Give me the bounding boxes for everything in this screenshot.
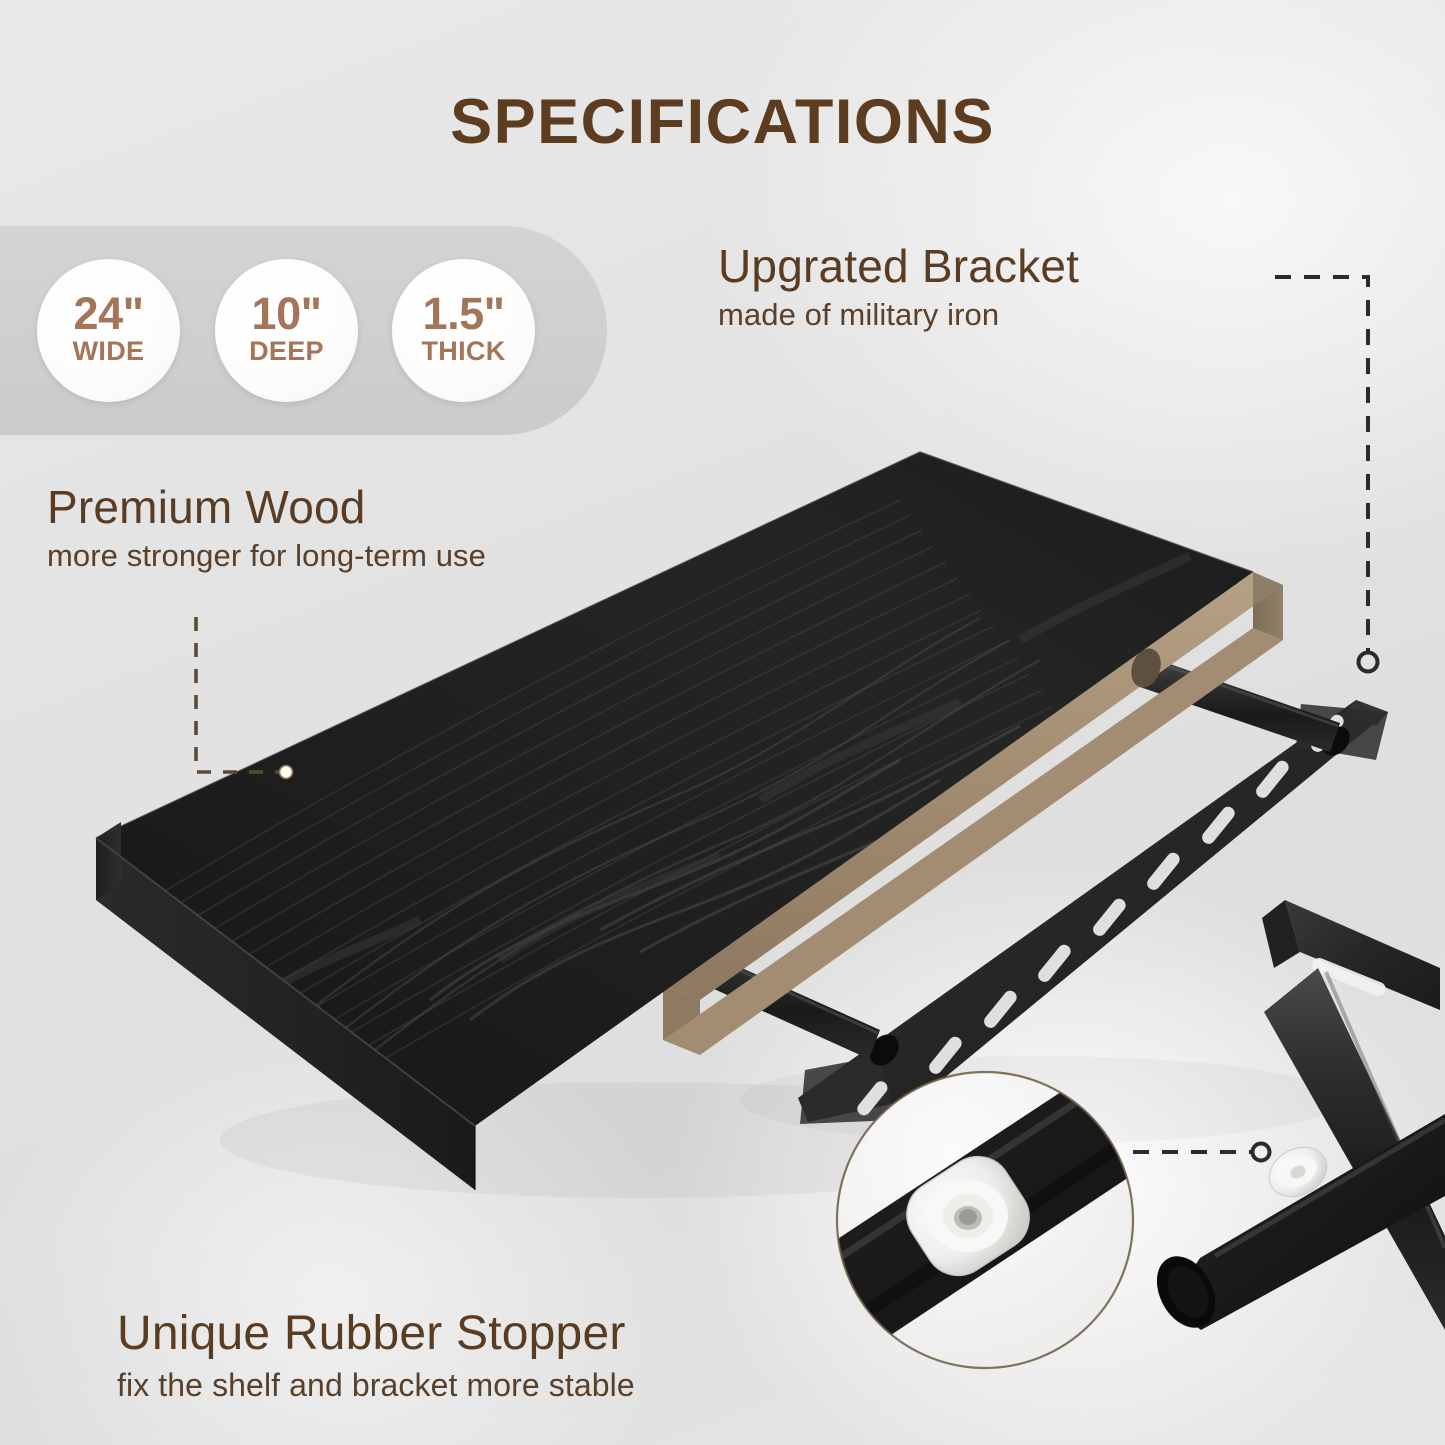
infographic-canvas: SPECIFICATIONS 24" WIDE 10" DEEP 1.5" TH… bbox=[0, 0, 1445, 1445]
callout-rubber-subtext: fix the shelf and bracket more stable bbox=[117, 1365, 635, 1407]
callout-rubber-heading: Unique Rubber Stopper bbox=[117, 1309, 635, 1359]
spec-badge-thick-value: 1.5" bbox=[423, 292, 505, 335]
leader-line-bracket bbox=[1275, 277, 1368, 652]
leader-endpoint-bracket bbox=[1359, 653, 1378, 672]
spec-badge-deep-unit: DEEP bbox=[249, 335, 324, 369]
callout-upgraded-bracket: Upgrated Bracket made of military iron bbox=[718, 243, 1079, 335]
page-title: SPECIFICATIONS bbox=[0, 86, 1445, 158]
spec-badge-thick: 1.5" THICK bbox=[392, 259, 535, 402]
spec-badge-wide: 24" WIDE bbox=[37, 259, 180, 402]
callout-rubber-stopper: Unique Rubber Stopper fix the shelf and … bbox=[117, 1309, 635, 1407]
spec-badge-thick-unit: THICK bbox=[422, 335, 506, 369]
spec-badge-deep-value: 10" bbox=[252, 292, 322, 335]
callout-wood-heading: Premium Wood bbox=[47, 484, 486, 532]
leader-endpoint-wood bbox=[280, 766, 293, 779]
product-illustration bbox=[0, 0, 1445, 1445]
spec-badge-wide-value: 24" bbox=[74, 292, 144, 335]
spec-badge-wide-unit: WIDE bbox=[73, 335, 145, 369]
leader-line-wood bbox=[196, 617, 280, 772]
callout-bracket-heading: Upgrated Bracket bbox=[718, 243, 1079, 291]
leader-endpoint-stopper bbox=[1253, 1144, 1270, 1161]
callout-wood-subtext: more stronger for long-term use bbox=[47, 536, 486, 576]
callout-premium-wood: Premium Wood more stronger for long-term… bbox=[47, 484, 486, 576]
spec-badge-deep: 10" DEEP bbox=[215, 259, 358, 402]
callout-bracket-subtext: made of military iron bbox=[718, 295, 1079, 335]
